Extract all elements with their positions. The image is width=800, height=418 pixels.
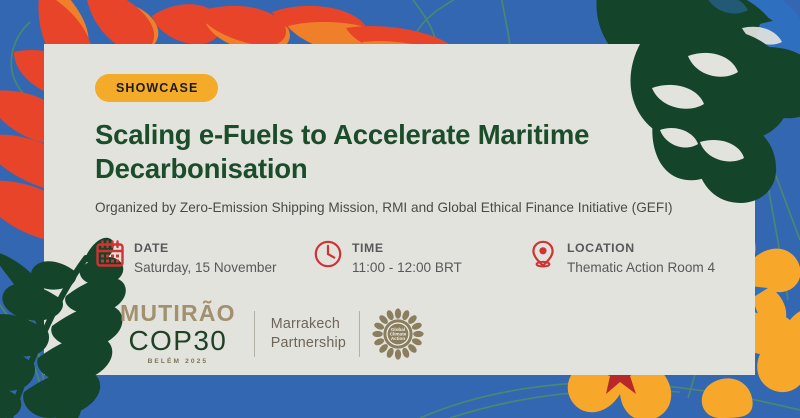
map-pin-icon <box>528 239 558 269</box>
detail-date-label: DATE <box>134 241 169 255</box>
event-title: Scaling e-Fuels to Accelerate Maritime D… <box>95 118 695 186</box>
detail-date-text: DATE Saturday, 15 November <box>134 238 277 277</box>
event-organizer: Organized by Zero-Emission Shipping Miss… <box>95 199 755 217</box>
logo-divider-1 <box>254 311 255 357</box>
detail-time-label: TIME <box>352 241 384 255</box>
event-banner: SHOWCASE Scaling e-Fuels to Accelerate M… <box>0 0 800 418</box>
cop30-logo-cop30: COP30 <box>120 326 236 355</box>
detail-date: DATE Saturday, 15 November <box>95 238 313 277</box>
cop30-logo: MUTIRÃO COP30 BELÉM 2025 <box>120 302 254 365</box>
marrakech-partnership-logo: Marrakech Partnership <box>271 315 359 352</box>
logo-divider-2 <box>359 311 360 357</box>
detail-location: LOCATION Thematic Action Room 4 <box>528 238 748 277</box>
detail-location-value: Thematic Action Room 4 <box>567 259 715 277</box>
detail-location-label: LOCATION <box>567 241 635 255</box>
calendar-icon <box>95 239 125 269</box>
gca-line-3: Action <box>391 336 405 341</box>
card-content: SHOWCASE Scaling e-Fuels to Accelerate M… <box>95 44 755 375</box>
global-climate-action-icon: Global Climate Action <box>372 308 424 360</box>
detail-time-text: TIME 11:00 - 12:00 BRT <box>352 238 462 277</box>
clock-icon <box>313 239 343 269</box>
detail-time: TIME 11:00 - 12:00 BRT <box>313 238 528 277</box>
marrakech-line-2: Partnership <box>271 334 346 353</box>
detail-time-value: 11:00 - 12:00 BRT <box>352 259 462 277</box>
cop30-logo-belem: BELÉM 2025 <box>120 358 236 365</box>
logo-row: MUTIRÃO COP30 BELÉM 2025 Marrakech Partn… <box>120 302 424 365</box>
showcase-badge: SHOWCASE <box>95 74 218 102</box>
cop30-logo-mutirao: MUTIRÃO <box>120 302 236 325</box>
marrakech-line-1: Marrakech <box>271 315 346 334</box>
detail-date-value: Saturday, 15 November <box>134 259 277 277</box>
event-details-row: DATE Saturday, 15 November TIME 11:00 - … <box>95 238 755 277</box>
detail-location-text: LOCATION Thematic Action Room 4 <box>567 238 715 277</box>
